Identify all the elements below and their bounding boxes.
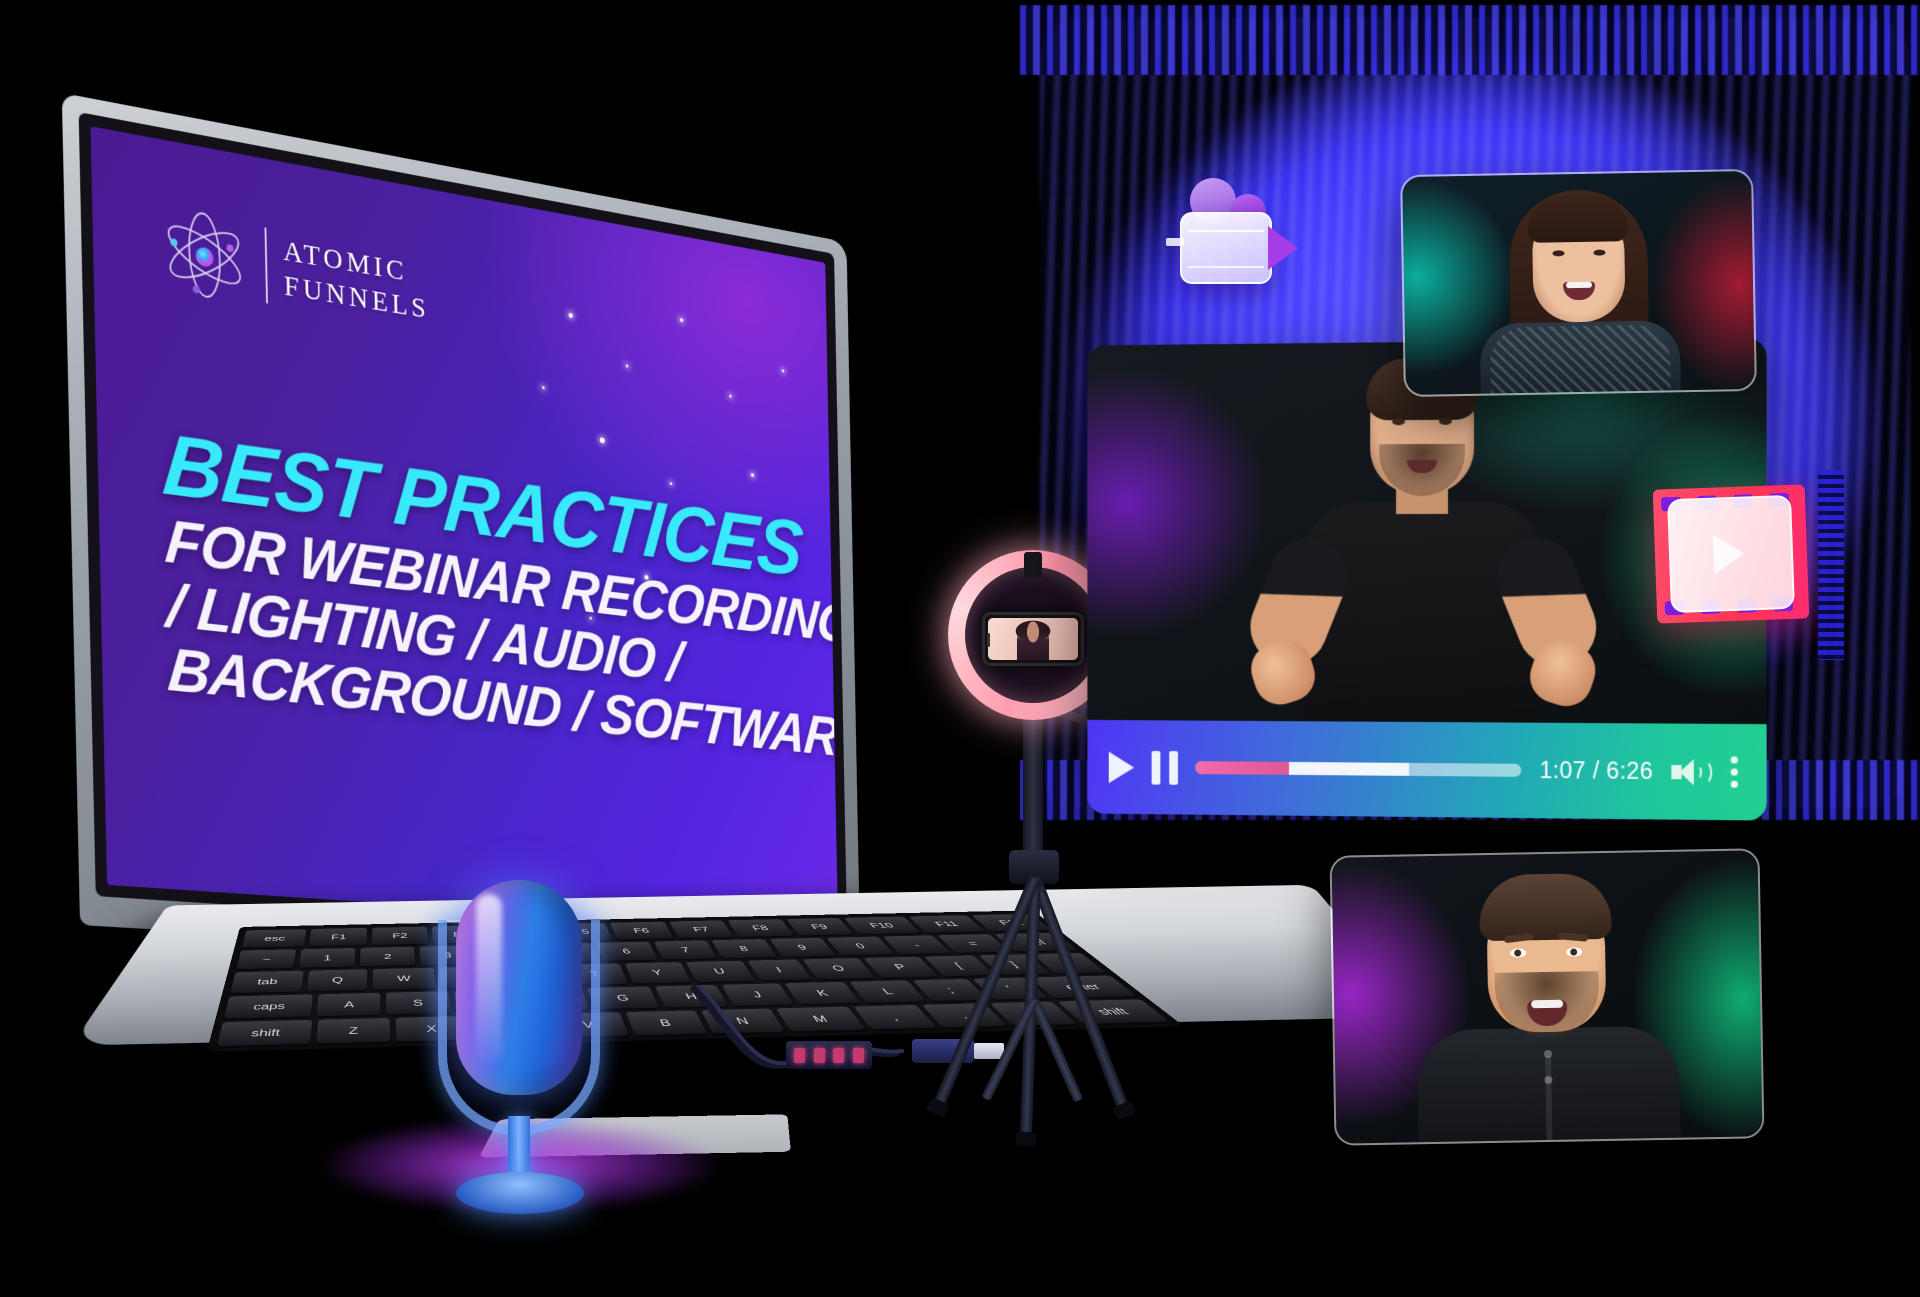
film-play-icon bbox=[1653, 484, 1810, 623]
keyboard-key[interactable]: W bbox=[373, 968, 436, 990]
camera-grip bbox=[1166, 238, 1184, 246]
kebab-menu-icon bbox=[1731, 756, 1738, 763]
keyboard-key[interactable]: 9 bbox=[769, 938, 836, 957]
brand-name: ATOMIC FUNNELS bbox=[283, 236, 430, 324]
microphone-capsule bbox=[456, 880, 582, 1095]
shirt-button bbox=[1544, 1076, 1552, 1084]
keyboard-key[interactable]: 0 bbox=[826, 937, 895, 956]
subject-torso bbox=[1304, 502, 1542, 735]
tripod-brace bbox=[1029, 998, 1083, 1103]
video-subject-man bbox=[1258, 364, 1588, 723]
keyboard-key[interactable]: F1 bbox=[309, 928, 367, 947]
slide-headline: BEST PRACTICES FOR WEBINAR RECORDING / L… bbox=[163, 422, 835, 765]
tripod-foot bbox=[1016, 1131, 1036, 1146]
keyboard-key[interactable]: 1 bbox=[298, 948, 355, 968]
keyboard-key[interactable]: O bbox=[802, 958, 876, 979]
shirt-placket bbox=[1545, 1056, 1552, 1140]
keyboard-key[interactable]: 8 bbox=[712, 939, 778, 958]
more-options-button[interactable] bbox=[1725, 756, 1744, 788]
play-icon bbox=[1109, 751, 1134, 783]
keyboard-key[interactable]: 7 bbox=[654, 940, 718, 959]
webcam-tile-man[interactable] bbox=[1330, 848, 1765, 1145]
keyboard-key[interactable]: F9 bbox=[786, 918, 854, 936]
phone-subject bbox=[1017, 621, 1049, 660]
keyboard-key[interactable]: F2 bbox=[372, 927, 429, 945]
tile-subject-eye bbox=[1552, 250, 1564, 256]
camera-body bbox=[1180, 212, 1272, 284]
blue-frame-edge bbox=[1818, 470, 1844, 660]
keyboard-key[interactable]: I bbox=[747, 960, 812, 981]
progress-fill bbox=[1196, 761, 1289, 775]
keyboard-key[interactable]: caps bbox=[224, 994, 313, 1018]
cable-usb-adapter bbox=[786, 1041, 872, 1069]
laptop-lid: ATOMIC FUNNELS BEST PRACTICES FOR WEBINA… bbox=[62, 93, 861, 972]
keyboard-key[interactable]: F7 bbox=[669, 920, 734, 938]
webcam-tile-woman[interactable] bbox=[1400, 169, 1757, 397]
volume-button[interactable] bbox=[1671, 756, 1706, 787]
usb-microphone bbox=[430, 880, 620, 1210]
keyboard-key[interactable]: U bbox=[685, 961, 754, 982]
video-controls-bar[interactable]: 1:07 / 6:26 bbox=[1087, 720, 1766, 821]
atom-icon bbox=[159, 200, 250, 309]
tripod-foot bbox=[926, 1097, 950, 1118]
keyboard-key[interactable]: ~ bbox=[236, 949, 296, 969]
brand-logo: ATOMIC FUNNELS bbox=[159, 200, 828, 402]
phone-screen bbox=[988, 618, 1078, 660]
keyboard-key[interactable]: Y bbox=[624, 962, 691, 983]
promo-image-stage: ATOMIC FUNNELS BEST PRACTICES FOR WEBINA… bbox=[0, 0, 1920, 1297]
logo-divider bbox=[265, 227, 268, 303]
tripod-center-column bbox=[1023, 700, 1043, 860]
keyboard-key[interactable]: shift bbox=[217, 1020, 313, 1047]
tile-subject-eye bbox=[1593, 250, 1605, 256]
microphone-base bbox=[456, 1172, 584, 1214]
video-camera-icon bbox=[1172, 172, 1300, 292]
time-display: 1:07 / 6:26 bbox=[1539, 757, 1653, 785]
phone-side-button bbox=[987, 633, 990, 647]
slide-content: ATOMIC FUNNELS BEST PRACTICES FOR WEBINA… bbox=[90, 126, 838, 933]
tile-subject-hair-front bbox=[1527, 195, 1628, 243]
volume-icon bbox=[1671, 756, 1706, 787]
smartphone-on-ring-light bbox=[982, 612, 1084, 666]
film-card bbox=[1667, 495, 1795, 613]
camera-lens bbox=[1268, 226, 1298, 270]
tile-subject-body bbox=[1479, 320, 1680, 393]
subject-eye bbox=[1392, 418, 1405, 425]
ring-light-mount bbox=[1024, 552, 1042, 578]
keyboard-key[interactable]: esc bbox=[242, 929, 307, 948]
progress-bar[interactable] bbox=[1196, 761, 1522, 777]
play-button[interactable] bbox=[1109, 751, 1134, 783]
laptop-bezel: ATOMIC FUNNELS BEST PRACTICES FOR WEBINA… bbox=[79, 112, 848, 944]
subject-eye bbox=[1439, 418, 1452, 425]
keyboard-key[interactable]: Q bbox=[306, 969, 367, 991]
keyboard-key[interactable]: A bbox=[316, 993, 380, 1017]
laptop-screen: ATOMIC FUNNELS BEST PRACTICES FOR WEBINA… bbox=[90, 126, 838, 933]
film-play-triangle-icon bbox=[1713, 534, 1744, 575]
shirt-button bbox=[1544, 1050, 1552, 1058]
pause-icon bbox=[1152, 750, 1178, 784]
pause-button[interactable] bbox=[1152, 750, 1178, 784]
tripod-leg bbox=[1029, 876, 1130, 1114]
keyboard-key[interactable]: 2 bbox=[360, 947, 416, 967]
tripod-foot bbox=[1112, 1100, 1136, 1120]
blue-edge-noise-top bbox=[1020, 5, 1920, 75]
keyboard-key[interactable]: tab bbox=[230, 971, 303, 993]
keyboard-key[interactable]: F8 bbox=[727, 919, 794, 937]
keyboard-key[interactable]: Z bbox=[316, 1018, 389, 1044]
tile-subject-body bbox=[1417, 1026, 1681, 1143]
